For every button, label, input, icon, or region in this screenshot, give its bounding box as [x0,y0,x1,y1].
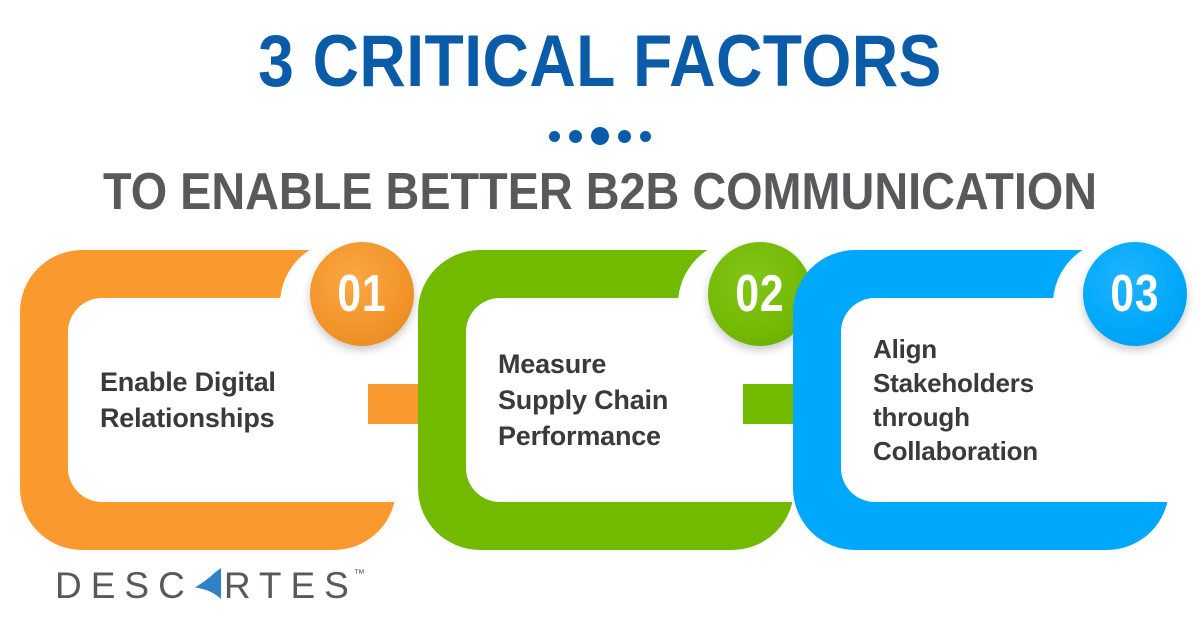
logo-text-part2: RTES [224,566,358,606]
logo-sail-icon [194,566,224,596]
step-badge-01: 01 [310,242,414,346]
step-badge-03: 03 [1083,242,1187,346]
step-text-line: Collaboration [873,434,1163,468]
descartes-logo: DESC RTES ™ [55,566,365,606]
infographic-page: 3 CRITICAL FACTORS TO ENABLE BETTER B2B … [0,0,1200,628]
step-card-03[interactable]: Align Stakeholders through Collaboration… [793,250,1169,550]
trademark-symbol: ™ [354,568,365,580]
step-text-line: Enable Digital [100,364,390,400]
step-card-02[interactable]: Measure Supply Chain Performance 02 [418,250,794,550]
step-number: 01 [337,264,386,324]
step-number: 03 [1110,264,1159,324]
step-text-line: Stakeholders [873,366,1163,400]
steps-container: Enable Digital Relationships 01 Measure [0,0,1200,628]
step-text-line: Relationships [100,400,390,436]
step-number: 02 [735,264,784,324]
logo-text-part1: DESC [55,566,194,606]
step-card-01[interactable]: Enable Digital Relationships 01 [20,250,396,550]
step-text-line: through [873,400,1163,434]
